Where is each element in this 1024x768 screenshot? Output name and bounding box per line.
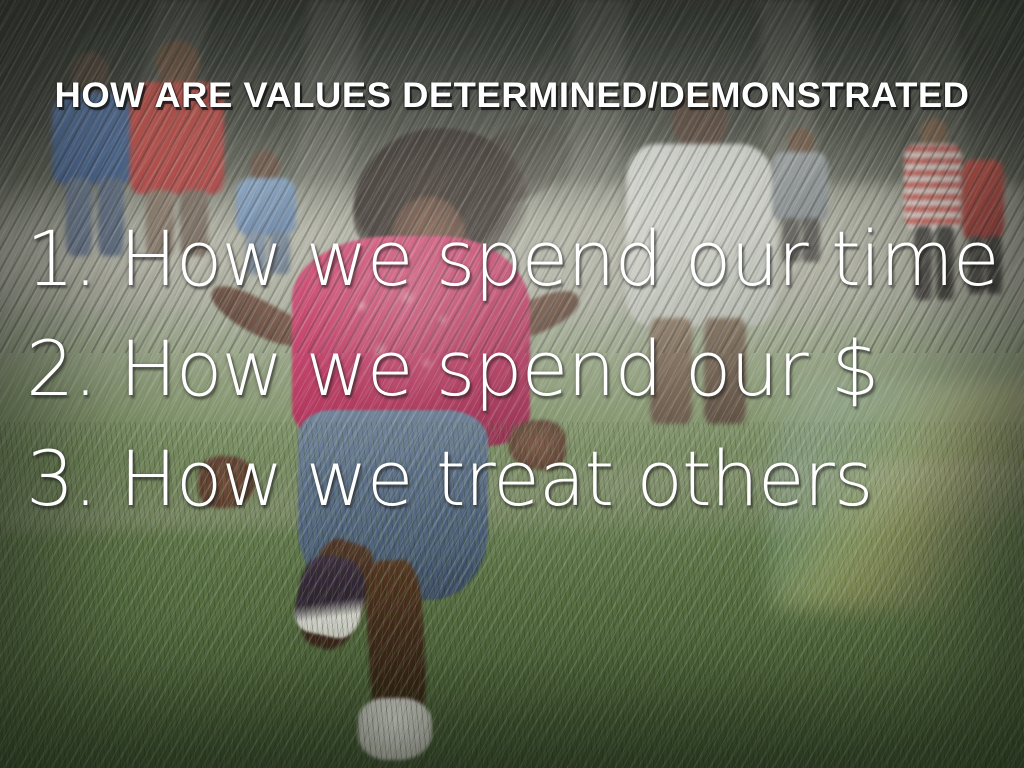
bullet-item-2: 2. How we spend our $ (26, 314, 986, 424)
bullet-item-3: 3. How we treat others (26, 424, 986, 534)
presentation-slide: HOW ARE VALUES DETERMINED/DEMONSTRATED 1… (0, 0, 1024, 768)
bullet-list: 1. How we spend our time 2. How we spend… (26, 204, 986, 534)
slide-text-overlay: HOW ARE VALUES DETERMINED/DEMONSTRATED 1… (0, 0, 1024, 768)
slide-title: HOW ARE VALUES DETERMINED/DEMONSTRATED (0, 76, 1024, 116)
bullet-item-1: 1. How we spend our time (26, 204, 986, 314)
